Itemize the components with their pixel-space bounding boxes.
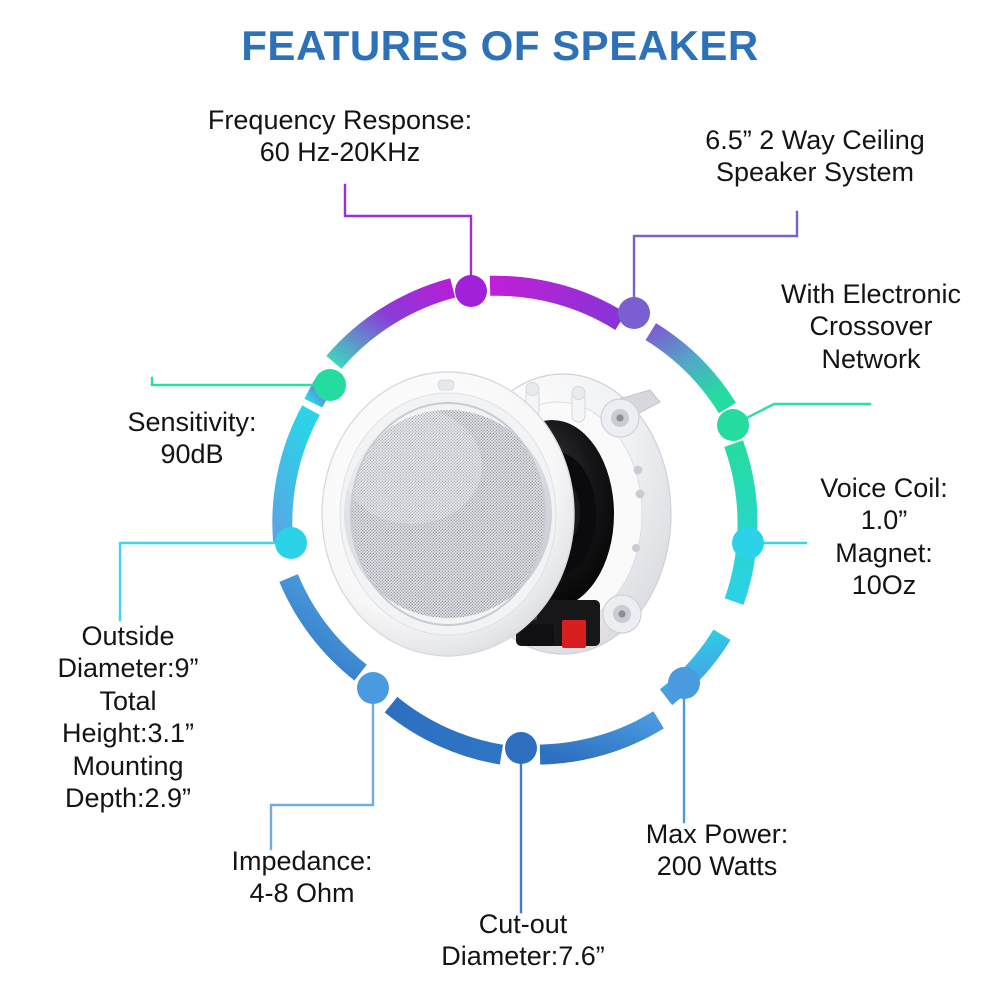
connector-impedance	[271, 688, 373, 849]
dot-crossover-network	[717, 409, 749, 441]
dot-max-power	[668, 667, 700, 699]
speaker-front-grille	[322, 372, 574, 656]
ring-segment-4	[734, 444, 748, 602]
callout-dimensions: Outside Diameter:9” Total Height:3.1” Mo…	[6, 620, 250, 814]
ring-segment-2	[490, 286, 621, 322]
connector-sensitivity	[152, 378, 330, 385]
page-title: FEATURES OF SPEAKER	[0, 22, 1000, 70]
dot-voice-coil	[732, 527, 764, 559]
dot-speaker-system	[618, 297, 650, 329]
speaker-illustration	[320, 362, 710, 662]
infographic-canvas: FEATURES OF SPEAKER	[0, 0, 1000, 1000]
callout-cut-out-diameter: Cut-out Diameter:7.6”	[392, 908, 654, 973]
callout-sensitivity: Sensitivity: 90dB	[44, 406, 340, 471]
ring-segment-6	[540, 720, 659, 755]
dot-impedance	[357, 672, 389, 704]
callout-impedance: Impedance: 4-8 Ohm	[172, 845, 432, 910]
callout-crossover-network: With Electronic Crossover Network	[742, 278, 1000, 375]
dot-frequency-response	[455, 275, 487, 307]
callout-voice-coil-magnet: Voice Coil: 1.0” Magnet: 10Oz	[768, 472, 1000, 602]
ring-segment-7	[391, 705, 501, 755]
ring-segment-1	[334, 288, 453, 362]
connector-crossover-network	[733, 404, 870, 425]
connector-dimensions	[120, 543, 291, 620]
speaker-product-image	[320, 362, 710, 662]
dot-cut-out	[505, 732, 537, 764]
mounting-clamp-lower	[603, 595, 641, 633]
dot-dimensions	[275, 527, 307, 559]
callout-frequency-response: Frequency Response: 60 Hz-20KHz	[140, 104, 540, 169]
callout-max-power: Max Power: 200 Watts	[592, 818, 842, 883]
connector-frequency-response	[345, 185, 471, 291]
callout-speaker-system: 6.5” 2 Way Ceiling Speaker System	[630, 124, 1000, 189]
